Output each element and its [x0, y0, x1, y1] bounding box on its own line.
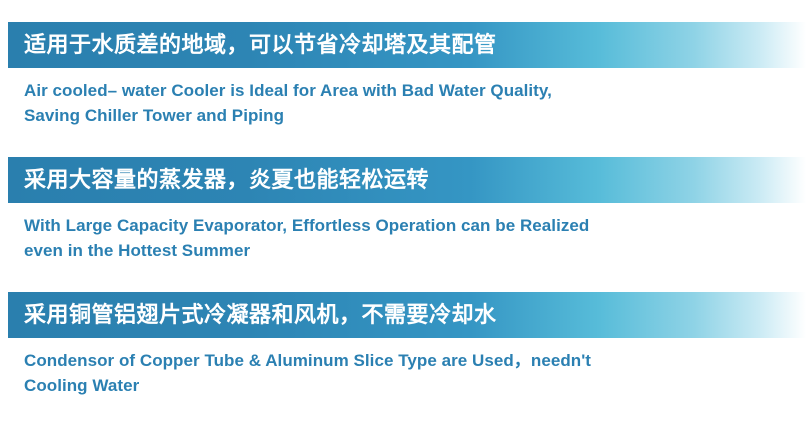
feature-subtitle-english: With Large Capacity Evaporator, Effortle…: [24, 214, 764, 263]
headline-gradient-bar: 采用铜管铝翅片式冷凝器和风机，不需要冷却水: [8, 292, 806, 338]
feature-headline-chinese: 采用大容量的蒸发器，炎夏也能轻松运转: [24, 169, 429, 191]
feature-headline-chinese: 适用于水质差的地域，可以节省冷却塔及其配管: [24, 34, 497, 56]
feature-block: 采用大容量的蒸发器，炎夏也能轻松运转 With Large Capacity E…: [0, 157, 811, 263]
feature-list-page: 适用于水质差的地域，可以节省冷却塔及其配管 Air cooled– water …: [0, 0, 811, 422]
feature-block: 适用于水质差的地域，可以节省冷却塔及其配管 Air cooled– water …: [0, 22, 811, 128]
subtitle-line: Saving Chiller Tower and Piping: [24, 104, 764, 129]
feature-subtitle-english: Air cooled– water Cooler is Ideal for Ar…: [24, 79, 764, 128]
headline-gradient-bar: 采用大容量的蒸发器，炎夏也能轻松运转: [8, 157, 806, 203]
feature-subtitle-english: Condensor of Copper Tube & Aluminum Slic…: [24, 349, 764, 398]
feature-headline-chinese: 采用铜管铝翅片式冷凝器和风机，不需要冷却水: [24, 304, 497, 326]
subtitle-line: Condensor of Copper Tube & Aluminum Slic…: [24, 349, 764, 374]
feature-block: 采用铜管铝翅片式冷凝器和风机，不需要冷却水 Condensor of Coppe…: [0, 292, 811, 398]
subtitle-line: With Large Capacity Evaporator, Effortle…: [24, 214, 764, 239]
subtitle-line: Cooling Water: [24, 374, 764, 399]
subtitle-line: Air cooled– water Cooler is Ideal for Ar…: [24, 79, 764, 104]
subtitle-line: even in the Hottest Summer: [24, 239, 764, 264]
headline-gradient-bar: 适用于水质差的地域，可以节省冷却塔及其配管: [8, 22, 806, 68]
